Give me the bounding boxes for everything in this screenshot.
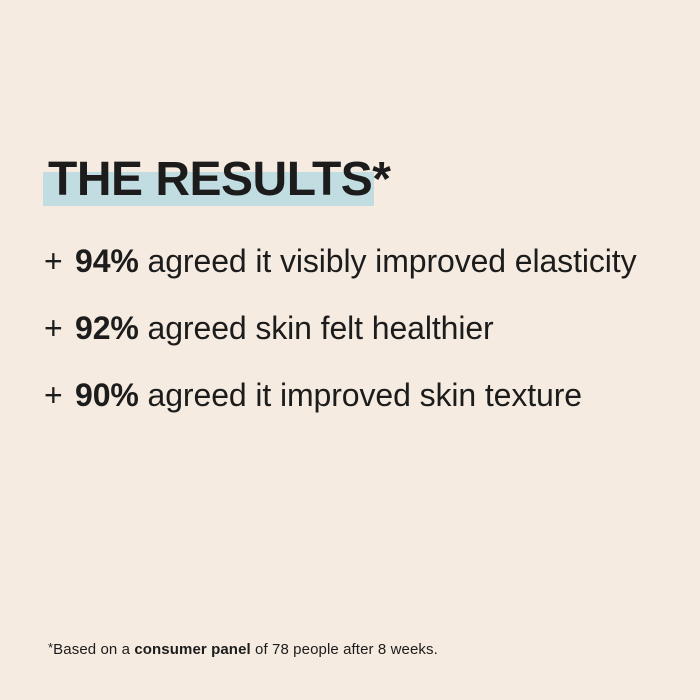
results-poster: THE RESULTS* +94% agreed it visibly impr… [0,0,700,700]
footnote-emphasis: consumer panel [134,641,250,658]
results-list: +94% agreed it visibly improved elastici… [44,240,684,417]
page-title-label: THE RESULTS [48,153,372,206]
bullet-plus-icon: + [44,240,63,283]
page-title-asterisk: * [372,153,391,206]
page-title-block: THE RESULTS* [43,152,391,208]
footnote-suffix: of 78 people after 8 weeks. [251,641,438,658]
result-description: agreed it improved skin texture [139,377,582,413]
page-title: THE RESULTS* [43,152,391,208]
result-percentage: 94% [75,243,139,279]
list-item: +92% agreed skin felt healthier [44,307,684,350]
bullet-plus-icon: + [44,307,63,350]
result-description: agreed it visibly improved elasticity [139,243,637,279]
result-percentage: 90% [75,377,139,413]
footnote: *Based on a consumer panel of 78 people … [48,638,438,660]
list-item: +90% agreed it improved skin texture [44,374,684,417]
list-item: +94% agreed it visibly improved elastici… [44,240,684,283]
footnote-prefix: Based on a [53,641,134,658]
result-description: agreed skin felt healthier [139,310,494,346]
result-percentage: 92% [75,310,139,346]
bullet-plus-icon: + [44,374,63,417]
